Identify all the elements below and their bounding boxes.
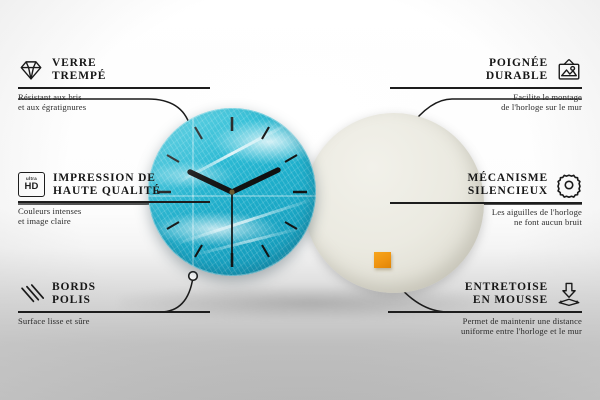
feature-verre-trempe: VERRE TREMPÉ Résistant aux bris et aux é…: [18, 57, 210, 112]
feature-title: BORDS POLIS: [52, 281, 96, 306]
infographic-canvas: VERRE TREMPÉ Résistant aux bris et aux é…: [0, 0, 600, 400]
feature-subtitle-line1: Permet de maintenir une distance: [388, 316, 582, 326]
feature-header: VERRE TREMPÉ: [18, 57, 210, 83]
feature-subtitle-line2: et image claire: [18, 216, 210, 226]
feature-header: POIGNÉE DURABLE: [390, 57, 582, 83]
feature-divider: [388, 311, 582, 313]
feature-header: ENTRETOISE EN MOUSSE: [388, 281, 582, 307]
hanging-frame-icon: [556, 57, 582, 83]
badge-main-text: HD: [24, 182, 38, 192]
feature-title: POIGNÉE DURABLE: [486, 57, 548, 82]
feature-subtitle-line2: de l'horloge sur le mur: [390, 102, 582, 112]
feature-divider: [18, 201, 210, 203]
feature-mecanisme-silencieux: MÉCANISME SILENCIEUX Les aiguilles de l'…: [390, 172, 582, 227]
feature-divider: [18, 87, 210, 89]
feature-title: IMPRESSION DE HAUTE QUALITÉ: [53, 172, 161, 197]
ultra-hd-badge-icon: ultra HD: [18, 172, 45, 197]
feature-divider: [390, 87, 582, 89]
gear-icon: [556, 172, 582, 198]
feature-subtitle-line1: Couleurs intenses: [18, 206, 210, 216]
feature-title: MÉCANISME SILENCIEUX: [468, 172, 549, 197]
feature-subtitle-line2: uniforme entre l'horloge et le mur: [388, 326, 582, 336]
feature-subtitle-line1: Les aiguilles de l'horloge: [390, 207, 582, 217]
feature-header: BORDS POLIS: [18, 281, 210, 307]
feature-bords-polis: BORDS POLIS Surface lisse et sûre: [18, 281, 210, 326]
feature-subtitle-line2: ne font aucun bruit: [390, 217, 582, 227]
diagonal-lines-icon: [18, 281, 44, 307]
feature-subtitle-line1: Surface lisse et sûre: [18, 316, 210, 326]
feature-header: ultra HD IMPRESSION DE HAUTE QUALITÉ: [18, 172, 210, 197]
feature-title: ENTRETOISE EN MOUSSE: [465, 281, 548, 306]
feature-subtitle-line1: Facilite le montage: [390, 92, 582, 102]
feature-subtitle-line2: et aux égratignures: [18, 102, 210, 112]
feature-poignee-durable: POIGNÉE DURABLE Facilite le montage de l…: [390, 57, 582, 112]
feature-entretoise-en-mousse: ENTRETOISE EN MOUSSE Permet de maintenir…: [388, 281, 582, 336]
feature-subtitle-line1: Résistant aux bris: [18, 92, 210, 102]
feature-title: VERRE TREMPÉ: [52, 57, 106, 82]
feature-header: MÉCANISME SILENCIEUX: [390, 172, 582, 198]
feature-impression-haute-qualite: ultra HD IMPRESSION DE HAUTE QUALITÉ Cou…: [18, 172, 210, 227]
diamond-icon: [18, 57, 44, 83]
down-arrow-layers-icon: [556, 281, 582, 307]
feature-divider: [18, 311, 210, 313]
feature-divider: [390, 202, 582, 204]
